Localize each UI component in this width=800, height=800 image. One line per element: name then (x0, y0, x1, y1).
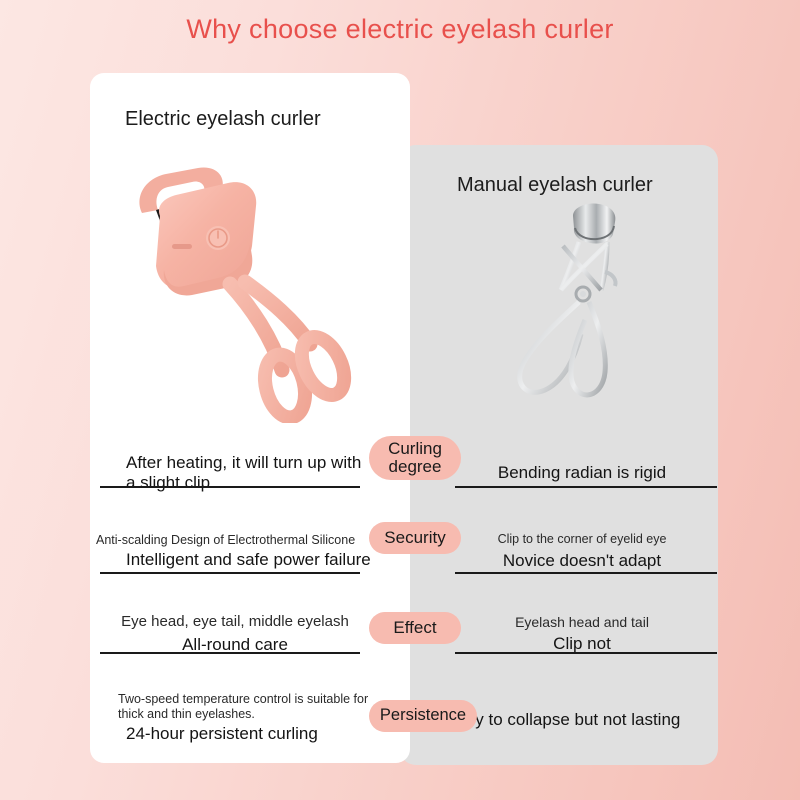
manual-cell: Eyelash head and tail Clip not (446, 594, 718, 674)
row-divider-right (455, 652, 717, 654)
manual-panel-heading: Manual eyelash curler (457, 174, 653, 197)
electric-cell: After heating, it will turn up with a sl… (96, 432, 374, 510)
manual-cell: Easy to collapse but not lasting (446, 674, 718, 762)
manual-detail-main: Novice doesn't adapt (446, 551, 718, 571)
manual-detail-main: Bending radian is rigid (446, 463, 718, 483)
comparison-label-badge: Security (369, 522, 461, 554)
manual-detail-main: Easy to collapse but not lasting (446, 710, 718, 730)
manual-detail-small: Eyelash head and tail (446, 614, 718, 631)
row-divider-left (100, 652, 360, 654)
comparison-label-badge: Effect (369, 612, 461, 644)
row-divider-left (100, 572, 360, 574)
electric-detail-small: Eye head, eye tail, middle eyelash (96, 613, 374, 631)
electric-detail-main: 24-hour persistent curling (96, 724, 374, 744)
comparison-label-badge: Curling degree (369, 436, 461, 480)
electric-detail-small: Anti-scalding Design of Electrothermal S… (96, 533, 374, 548)
page-title: Why choose electric eyelash curler (0, 14, 800, 45)
electric-panel-heading: Electric eyelash curler (125, 108, 321, 131)
manual-cell: Clip to the corner of eyelid eye Novice … (446, 510, 718, 594)
electric-cell: Eye head, eye tail, middle eyelash All-r… (96, 594, 374, 674)
comparison-label-badge: Persistence (369, 700, 477, 732)
electric-detail-main: Intelligent and safe power failure (96, 550, 374, 570)
electric-detail-small: Two-speed temperature control is suitabl… (96, 692, 374, 722)
manual-cell: Bending radian is rigid (446, 432, 718, 510)
row-divider-left (100, 486, 360, 488)
electric-cell: Anti-scalding Design of Electrothermal S… (96, 510, 374, 594)
row-divider-right (455, 572, 717, 574)
manual-eyelash-curler-photo (495, 198, 675, 420)
manual-detail-small: Clip to the corner of eyelid eye (446, 532, 718, 547)
electric-eyelash-curler-photo (112, 158, 362, 423)
row-divider-right (455, 486, 717, 488)
electric-cell: Two-speed temperature control is suitabl… (96, 674, 374, 762)
